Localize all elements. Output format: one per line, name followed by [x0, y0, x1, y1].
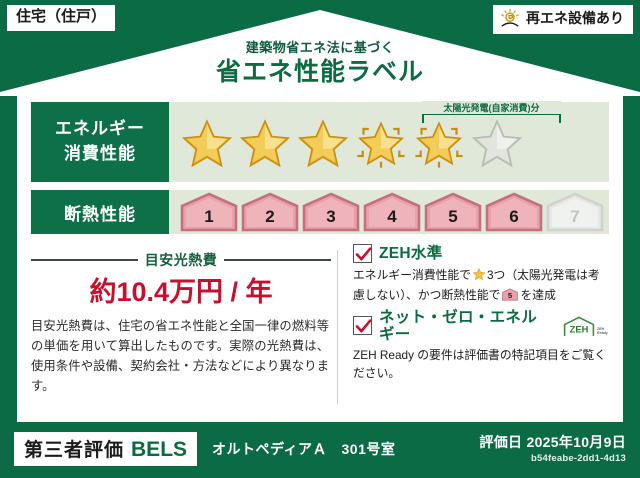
energy-rating-area: 太陽光発電(自家消費)分 [169, 102, 609, 182]
label-body-panel: エネルギー 消費性能 太陽光発電(自家消費)分 [17, 92, 623, 422]
insulation-level-3: 3 [302, 192, 360, 232]
insulation-level-number: 2 [265, 208, 274, 232]
insulation-level-4: 4 [363, 192, 421, 232]
star-icon-filled-1 [179, 116, 235, 170]
housing-type-tag: 住宅（住戸） [7, 5, 115, 31]
sun-icon [499, 8, 521, 30]
insulation-level-6: 6 [485, 192, 543, 232]
check-text-pre: エネルギー消費性能で [353, 268, 471, 282]
insulation-level-number: 4 [387, 208, 396, 232]
utility-cost-block: 目安光熱費 約10.4万円 / 年 目安光熱費は、住宅の省エネ性能と全国一律の燃… [31, 244, 331, 412]
insulation-level-scale: 1 2 3 [180, 192, 604, 232]
check-icon [353, 316, 372, 335]
insulation-level-7: 7 [546, 192, 604, 232]
energy-label-line1: エネルギー [55, 117, 145, 142]
check-header: ZEH水準 [353, 244, 609, 263]
check-title: ZEH水準 [379, 245, 443, 262]
renewable-energy-tag: 再エネ設備あり [493, 5, 633, 34]
star-icon-filled-3 [295, 116, 351, 170]
inline-star-icon [472, 267, 486, 286]
svg-text:Ready: Ready [597, 331, 608, 335]
solar-bracket-label: 太陽光発電(自家消費)分 [422, 101, 561, 114]
bels-en-label: BELS [131, 438, 187, 462]
evaluation-id: b54feabe-2dd1-4d13 [479, 453, 626, 464]
insulation-level-number: 5 [448, 208, 457, 232]
check-description: エネルギー消費性能で 3つ（太陽光発電は考慮しない）、かつ断熱性能で 5 を達成 [353, 266, 609, 305]
label-footer: 第三者評価 BELS オルトペディアＡ 301号室 評価日 2025年10月9日… [0, 426, 640, 478]
insulation-level-number: 3 [326, 208, 335, 232]
utility-cost-note: 目安光熱費は、住宅の省エネ性能と全国一律の燃料等の単価を用いて算出したものです。… [31, 317, 331, 397]
label-lower-section: 目安光熱費 約10.4万円 / 年 目安光熱費は、住宅の省エネ性能と全国一律の燃… [31, 244, 609, 412]
insulation-level-1: 1 [180, 192, 238, 232]
star-icon-empty-6 [469, 116, 525, 170]
bels-jp-label: 第三者評価 [24, 435, 124, 462]
insulation-rating-area: 1 2 3 [169, 190, 609, 234]
check-item-zeh-standard: ZEH水準 エネルギー消費性能で 3つ（太陽光発電は考慮しない）、かつ断熱性能で… [353, 244, 609, 305]
check-title: ネット・ゼロ・エネルギー [379, 309, 551, 343]
check-header: ネット・ゼロ・エネルギー ZEH ZEH Ready [353, 309, 609, 343]
star-icon-solar-4 [353, 116, 409, 170]
title-subtitle: 建築物省エネ法に基づく [0, 40, 640, 56]
star-icon-solar-5 [411, 116, 467, 170]
insulation-performance-row: 断熱性能 1 2 [31, 190, 609, 234]
utility-cost-heading: 目安光熱費 [31, 250, 331, 270]
energy-performance-label: エネルギー 消費性能 [31, 102, 169, 182]
check-text-post: を達成 [520, 288, 555, 302]
svg-text:ZEH: ZEH [597, 326, 605, 330]
check-description: ZEH Ready の要件は評価書の特記項目をご覧ください。 [353, 346, 609, 383]
title-main: 省エネ性能ラベル [0, 57, 640, 88]
label-header: 住宅（住戸） 再エネ設備あり 建築物省エネ法に基づく 省エネ性能ラベル [0, 0, 640, 96]
evaluation-date: 評価日 2025年10月9日 [479, 432, 626, 452]
label-title-block: 建築物省エネ法に基づく 省エネ性能ラベル [0, 40, 640, 88]
star-rating [179, 116, 525, 170]
utility-cost-value: 約10.4万円 / 年 [31, 276, 331, 308]
insulation-level-badge-5: 5 [502, 287, 518, 301]
insulation-level-2: 2 [241, 192, 299, 232]
heading-rule-right [224, 259, 331, 261]
zeh-ready-logo-icon: ZEH ZEH Ready [561, 315, 609, 337]
energy-performance-row: エネルギー 消費性能 太陽光発電(自家消費)分 [31, 102, 609, 182]
check-item-net-zero-energy: ネット・ゼロ・エネルギー ZEH ZEH Ready Z [353, 309, 609, 383]
bels-badge: 第三者評価 BELS [14, 432, 197, 466]
insulation-performance-label: 断熱性能 [31, 190, 169, 234]
insulation-level-number: 7 [570, 208, 579, 232]
vertical-divider [337, 250, 338, 404]
certification-checks: ZEH水準 エネルギー消費性能で 3つ（太陽光発電は考慮しない）、かつ断熱性能で… [353, 244, 609, 386]
check-icon [353, 244, 372, 263]
energy-label-line2: 消費性能 [64, 142, 136, 167]
star-icon-filled-2 [237, 116, 293, 170]
energy-performance-label: 住宅（住戸） 再エネ設備あり 建築物省エネ法に基づく 省エネ性能ラベル [0, 0, 640, 478]
evaluation-info: 評価日 2025年10月9日 b54feabe-2dd1-4d13 [479, 432, 626, 464]
svg-text:ZEH: ZEH [570, 324, 589, 334]
svg-text:5: 5 [508, 292, 513, 301]
utility-cost-heading-text: 目安光熱費 [145, 250, 218, 270]
insulation-level-number: 6 [509, 208, 518, 232]
insulation-level-number: 1 [204, 208, 213, 232]
insulation-level-5: 5 [424, 192, 482, 232]
heading-rule-left [31, 259, 138, 261]
renewable-tag-label: 再エネ設備あり [526, 11, 624, 26]
building-name: オルトペディアＡ 301号室 [212, 439, 395, 459]
